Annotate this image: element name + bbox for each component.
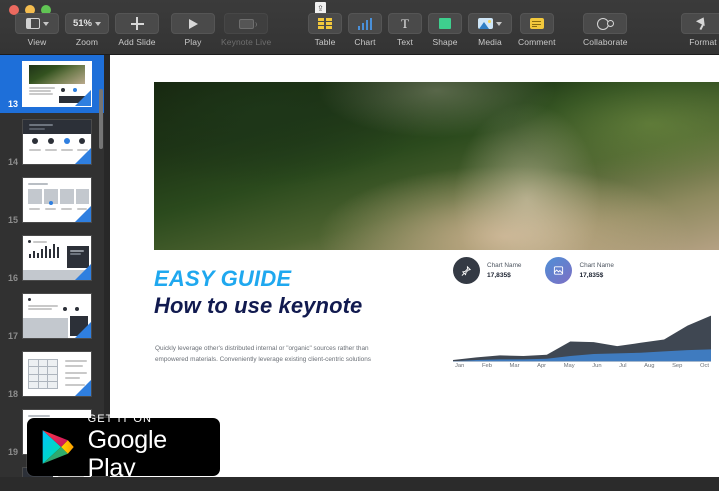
toolbar-item-text[interactable]: T Text [388, 13, 422, 47]
pin-icon [453, 257, 480, 284]
slide-chart-block[interactable]: Chart Name 17,835$ Chart Name [453, 257, 711, 284]
table-icon [318, 18, 332, 30]
slide-thumb-image [22, 177, 92, 223]
shape-label: Shape [432, 37, 457, 47]
chart-x-tick: Sep [672, 363, 682, 369]
slide-number: 14 [0, 157, 22, 167]
play-button[interactable] [171, 13, 215, 34]
add-slide-label: Add Slide [118, 37, 155, 47]
toolbar-item-add-slide[interactable]: Add Slide [115, 13, 159, 47]
chevron-down-icon [95, 22, 101, 26]
slide-thumb-image [22, 235, 92, 281]
window-bottom-strip [0, 477, 719, 491]
collaborate-icon [597, 18, 614, 30]
zoom-label: Zoom [76, 37, 98, 47]
stat-text-2: Chart Name 17,835$ [579, 261, 613, 280]
toolbar: View 51% Zoom Add Slide [0, 0, 719, 55]
slide-body-text[interactable]: Quickly leverage other's distributed int… [155, 343, 400, 365]
chevron-down-icon [496, 22, 502, 26]
chart-x-tick: May [564, 363, 575, 369]
toolbar-item-chart[interactable]: Chart [348, 13, 382, 47]
slide-number: 17 [0, 331, 22, 341]
slide-thumb-image [22, 293, 92, 339]
slide-number: 18 [0, 389, 22, 399]
table-label: Table [315, 37, 336, 47]
zoom-button[interactable]: 51% [65, 13, 109, 34]
toolbar-item-collaborate[interactable]: Collaborate [583, 13, 628, 47]
google-play-text: GET IT ON Google Play [88, 413, 220, 482]
format-button[interactable] [681, 13, 719, 34]
image-icon [545, 257, 572, 284]
collaborate-label: Collaborate [583, 37, 628, 47]
area-chart[interactable] [453, 309, 711, 362]
stat-item-1[interactable]: Chart Name 17,835$ [453, 257, 521, 284]
chevron-down-icon [43, 22, 49, 26]
slide-thumbnail-18[interactable]: 18 [0, 345, 104, 403]
slide-thumb-image [22, 351, 92, 397]
slide-number: 15 [0, 215, 22, 225]
stat-text-1: Chart Name 17,835$ [487, 261, 521, 280]
plus-icon [131, 17, 144, 30]
view-label: View [28, 37, 47, 47]
shape-icon [439, 18, 451, 29]
view-icon [26, 18, 40, 29]
zoom-value: 51% [73, 18, 92, 29]
chart-legend: Chart Name 17,835$ Chart Name [453, 257, 711, 284]
slide-number: 16 [0, 273, 22, 283]
canvas-scrollbar[interactable] [713, 55, 719, 491]
toolbar-item-shape[interactable]: Shape [428, 13, 462, 47]
google-play-icon [41, 428, 75, 466]
chart-x-tick: Aug [644, 363, 654, 369]
play-icon [189, 19, 198, 29]
toolbar-item-view[interactable]: View [15, 13, 59, 47]
toolbar-right-group: Collaborate [580, 13, 631, 47]
toolbar-format-group: Format [678, 13, 719, 47]
text-button[interactable]: T [388, 13, 422, 34]
slide-thumbnail-14[interactable]: 14 [0, 113, 104, 171]
play-label: Play [185, 37, 202, 47]
keynote-live-label: Keynote Live [221, 37, 271, 47]
comment-icon [530, 18, 544, 29]
toolbar-item-zoom[interactable]: 51% Zoom [65, 13, 109, 47]
badge-large-text: Google Play [88, 426, 220, 482]
slide-main-title: How to use keynote [154, 293, 362, 319]
area-chart-svg [453, 309, 711, 362]
slide-number: 19 [0, 447, 22, 457]
slide-thumbnail-13[interactable]: 13 [0, 55, 104, 113]
chart-x-tick: Mar [510, 363, 520, 369]
badge-small-text: GET IT ON [88, 413, 220, 426]
hero-image-haze [154, 82, 719, 250]
chart-x-tick: Apr [537, 363, 546, 369]
toolbar-item-table[interactable]: Table [308, 13, 342, 47]
toolbar-item-comment[interactable]: Comment [518, 13, 556, 47]
slide-thumbnail-15[interactable]: 15 [0, 171, 104, 229]
chart-x-axis-labels: JanFebMarAprMayJunJulAugSepOct [453, 363, 711, 369]
chart-label: Chart [354, 37, 375, 47]
chart-button[interactable] [348, 13, 382, 34]
toolbar-item-play[interactable]: Play [171, 13, 215, 47]
toolbar-item-format[interactable]: Format [681, 13, 719, 47]
stat-item-2[interactable]: Chart Name 17,835$ [545, 257, 613, 284]
slide-thumbnail-16[interactable]: 16 [0, 229, 104, 287]
chart-x-tick: Jun [592, 363, 601, 369]
comment-button[interactable] [520, 13, 554, 34]
toolbar-item-keynote-live[interactable]: Keynote Live [221, 13, 271, 47]
collaborate-button[interactable] [583, 13, 627, 34]
media-label: Media [478, 37, 502, 47]
google-play-badge[interactable]: GET IT ON Google Play [27, 418, 220, 476]
slide-title-block[interactable]: EASY GUIDE How to use keynote [154, 267, 362, 319]
shape-button[interactable] [428, 13, 462, 34]
toolbar-play-group: Play Keynote Live [168, 13, 274, 47]
chart-x-tick: Oct [700, 363, 709, 369]
text-label: Text [397, 37, 413, 47]
slide-hero-image[interactable] [154, 82, 719, 250]
navigator-scrollbar-thumb[interactable] [99, 89, 103, 149]
add-slide-button[interactable] [115, 13, 159, 34]
stat-value: 17,835$ [579, 271, 613, 280]
keynote-window: View 51% Zoom Add Slide [0, 0, 719, 491]
slide-number: 13 [0, 99, 22, 109]
keynote-live-icon [239, 19, 254, 29]
toolbar-insert-group: Table Chart T Text Shape [305, 13, 559, 47]
format-icon [696, 17, 710, 30]
keynote-live-button[interactable] [224, 13, 268, 34]
slide-eyebrow-title: EASY GUIDE [154, 267, 362, 291]
slide-thumb-image [22, 61, 92, 107]
share-glyph: ⇪ [317, 5, 324, 13]
media-icon [478, 18, 493, 29]
stat-value: 17,835$ [487, 271, 521, 280]
stat-name: Chart Name [579, 261, 613, 270]
chart-x-tick: Jan [455, 363, 464, 369]
text-icon: T [401, 17, 409, 30]
table-button[interactable] [308, 13, 342, 34]
media-button[interactable] [468, 13, 512, 34]
view-button[interactable] [15, 13, 59, 34]
chart-x-tick: Jul [619, 363, 626, 369]
toolbar-item-media[interactable]: Media [468, 13, 512, 47]
format-label: Format [689, 37, 717, 47]
toolbar-left-group: View 51% Zoom Add Slide [12, 13, 162, 47]
comment-label: Comment [518, 37, 556, 47]
stat-name: Chart Name [487, 261, 521, 270]
chart-x-tick: Feb [482, 363, 492, 369]
chart-icon [358, 18, 373, 30]
slide-thumb-image [22, 119, 92, 165]
slide-thumbnail-17[interactable]: 17 [0, 287, 104, 345]
